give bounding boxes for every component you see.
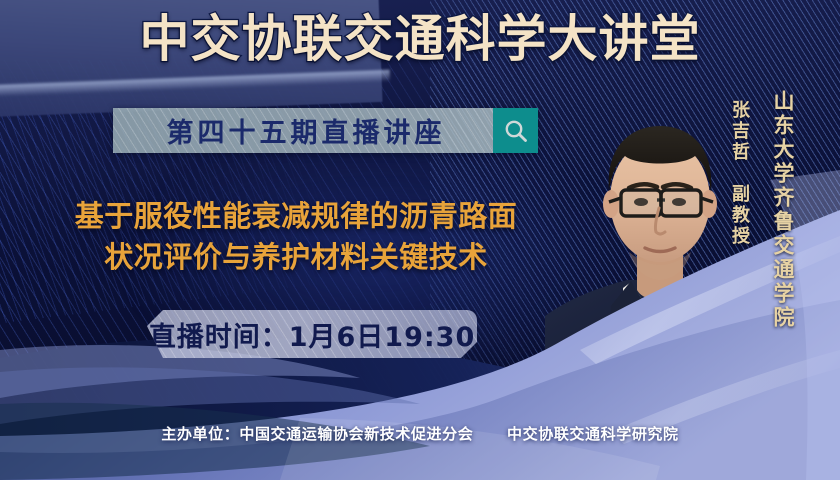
page-title: 中交协联交通科学大讲堂 xyxy=(0,14,840,64)
footer-organizer: 主办单位：中国交通运输协会新技术促进分会 xyxy=(161,425,473,443)
lecture-title-line-2: 状况评价与养护材料关键技术 xyxy=(18,237,574,278)
search-icon xyxy=(503,118,529,144)
episode-banner: 第四十五期直播讲座 xyxy=(113,108,538,153)
speaker-name-title: 张吉哲 副教授 xyxy=(726,100,752,247)
episode-banner-body: 第四十五期直播讲座 xyxy=(113,108,493,153)
episode-label: 第四十五期直播讲座 xyxy=(161,111,446,150)
lecture-title-line-1: 基于服役性能衰减规律的沥青路面 xyxy=(75,199,518,233)
speaker-organization: 山东大学齐鲁交通学院 xyxy=(768,90,798,330)
broadcast-time-badge: 直播时间：1月6日19:30 xyxy=(147,310,477,358)
broadcast-time-label: 直播时间：1月6日19:30 xyxy=(149,315,476,354)
webinar-poster: 中交协联交通科学大讲堂 第四十五期直播讲座 基于服役性能衰减规律的沥青路面 状况… xyxy=(0,0,840,480)
footer-co-organizer: 中交协联交通科学研究院 xyxy=(507,425,679,443)
search-icon-tile[interactable] xyxy=(493,108,538,153)
lecture-title: 基于服役性能衰减规律的沥青路面 状况评价与养护材料关键技术 xyxy=(18,196,574,278)
footer: 主办单位：中国交通运输协会新技术促进分会 中交协联交通科学研究院 xyxy=(0,423,840,444)
